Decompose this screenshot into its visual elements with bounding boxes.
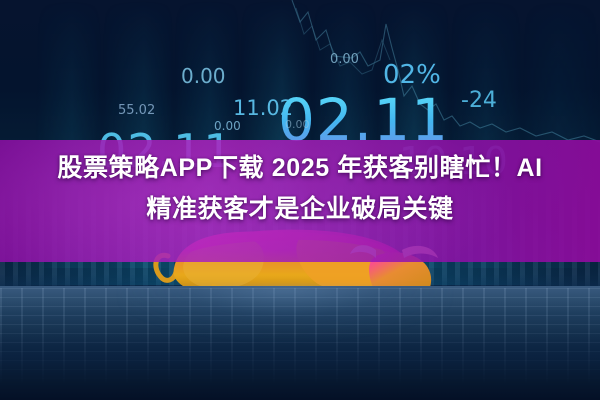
ticker-value: 55.02 xyxy=(118,103,155,118)
ticker-value: 0.00 xyxy=(330,52,359,67)
ticker-value: 0.00 xyxy=(285,118,310,131)
ticker-value: -24 xyxy=(461,88,497,113)
floor-reflection xyxy=(120,286,450,342)
headline-line-1: 股票策略APP下载 2025 年获客别瞎忙！AI xyxy=(0,148,600,189)
ticker-value: 0.00 xyxy=(181,64,226,88)
banner-image: 0.00 55.02 11.02 0.00 0.00 02% -24 02.11… xyxy=(0,0,600,400)
headline-line-2: 精准获客才是企业破局关键 xyxy=(0,189,600,230)
headline: 股票策略APP下载 2025 年获客别瞎忙！AI 精准获客才是企业破局关键 xyxy=(0,148,600,230)
